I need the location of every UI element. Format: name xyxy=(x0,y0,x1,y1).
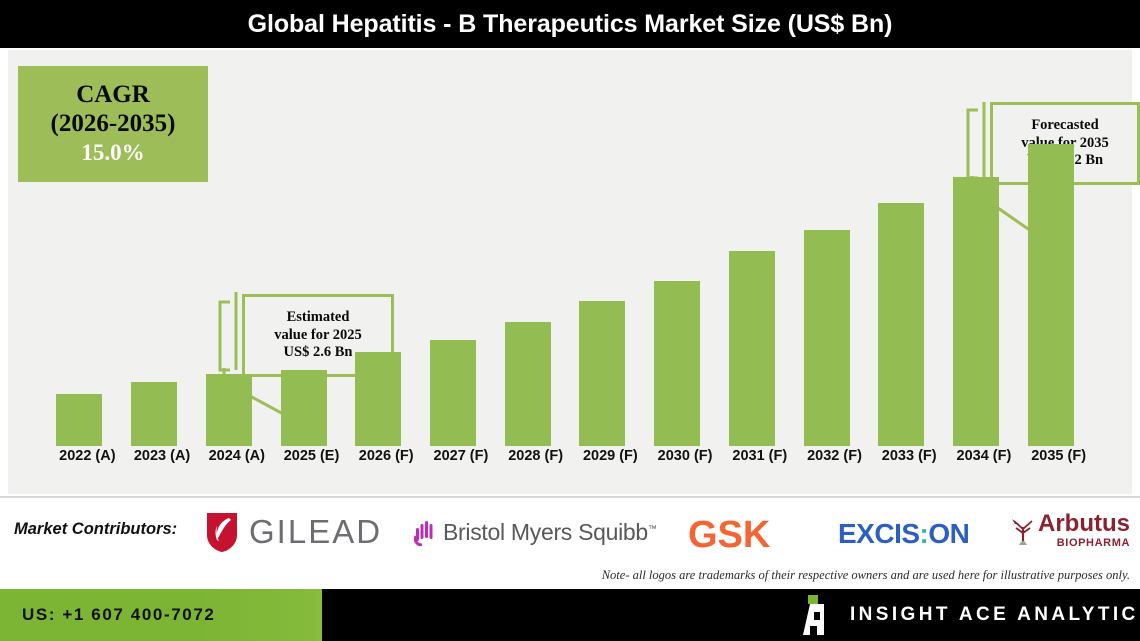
bar-2033-f- xyxy=(878,203,924,447)
arbutus-wordmark: Arbutus xyxy=(1038,512,1130,536)
x-axis-label-2035-f-: 2035 (F) xyxy=(1021,446,1097,466)
x-axis-label-2032-f-: 2032 (F) xyxy=(797,446,873,466)
x-axis-label-2027-f-: 2027 (F) xyxy=(423,446,499,466)
chart-plot-area: CAGR (2026-2035) 15.0% Estimated value f… xyxy=(8,50,1132,494)
footer-bar: US: +1 607 400-7072 INSIGHT ACE ANALYTIC xyxy=(0,589,1140,641)
x-axis-label-2029-f-: 2029 (F) xyxy=(572,446,648,466)
bar-2022-a- xyxy=(56,394,102,447)
logo-gsk: GSK xyxy=(688,514,770,557)
bms-trademark: ™ xyxy=(648,523,657,533)
bar-2026-f- xyxy=(355,352,401,447)
bar-2034-f- xyxy=(953,177,999,447)
gsk-wordmark: GSK xyxy=(688,514,770,557)
arbutus-tree-icon xyxy=(1010,515,1036,547)
x-axis-label-2026-f-: 2026 (F) xyxy=(348,446,424,466)
x-axis-label-row: 2022 (A)2023 (A)2024 (A)2025 (E)2026 (F)… xyxy=(8,446,1132,490)
insight-ace-logo-icon xyxy=(800,595,834,635)
gilead-wordmark: GILEAD xyxy=(249,513,382,551)
bar-2031-f- xyxy=(729,251,775,447)
bar-2023-a- xyxy=(131,382,177,447)
arbutus-subtitle: BIOPHARMA xyxy=(1038,537,1130,549)
bar-2028-f- xyxy=(505,322,551,447)
x-axis-label-2031-f-: 2031 (F) xyxy=(722,446,798,466)
bar-2027-f- xyxy=(430,340,476,447)
trademark-note: Note- all logos are trademarks of their … xyxy=(602,568,1130,583)
phone-number: US: +1 607 400-7072 xyxy=(22,605,215,625)
bar-2032-f- xyxy=(804,230,850,447)
bar-series xyxy=(8,50,1132,494)
logo-excision: EXCIS:ON xyxy=(838,518,969,550)
bar-2029-f- xyxy=(579,301,625,447)
brand-lockup: INSIGHT ACE ANALYTIC xyxy=(800,589,1139,641)
bms-hand-icon xyxy=(414,518,436,546)
title-bar: Global Hepatitis - B Therapeutics Market… xyxy=(0,0,1140,48)
bar-2035-f- xyxy=(1028,144,1074,447)
bar-2025-e- xyxy=(281,370,327,447)
gilead-shield-icon xyxy=(205,511,239,553)
x-axis-label-2023-a-: 2023 (A) xyxy=(124,446,200,466)
logo-arbutus-biopharma: Arbutus BIOPHARMA xyxy=(1010,512,1130,549)
brand-name: INSIGHT ACE ANALYTIC xyxy=(850,604,1139,626)
x-axis-label-2028-f-: 2028 (F) xyxy=(498,446,574,466)
excision-wordmark: EXCIS:ON xyxy=(838,518,969,550)
x-axis-label-2024-a-: 2024 (A) xyxy=(199,446,275,466)
page-title: Global Hepatitis - B Therapeutics Market… xyxy=(248,10,893,39)
x-axis-label-2030-f-: 2030 (F) xyxy=(647,446,723,466)
logo-bristol-myers-squibb: Bristol Myers Squibb™ xyxy=(414,518,657,546)
arbutus-text-block: Arbutus BIOPHARMA xyxy=(1038,512,1130,549)
bar-2024-a- xyxy=(206,374,252,447)
market-contributors-strip: Market Contributors: GILEAD Bristol Myer… xyxy=(0,496,1140,560)
x-axis-label-2022-a-: 2022 (A) xyxy=(49,446,125,466)
contributors-label: Market Contributors: xyxy=(14,520,177,539)
logo-gilead: GILEAD xyxy=(205,511,382,553)
x-axis-label-2033-f-: 2033 (F) xyxy=(871,446,947,466)
x-axis-label-2025-e-: 2025 (E) xyxy=(274,446,350,466)
phone-badge[interactable]: US: +1 607 400-7072 xyxy=(0,589,322,641)
bms-wordmark: Bristol Myers Squibb™ xyxy=(443,519,657,546)
bar-2030-f- xyxy=(654,281,700,447)
x-axis-label-2034-f-: 2034 (F) xyxy=(946,446,1022,466)
infographic-page: Global Hepatitis - B Therapeutics Market… xyxy=(0,0,1140,641)
